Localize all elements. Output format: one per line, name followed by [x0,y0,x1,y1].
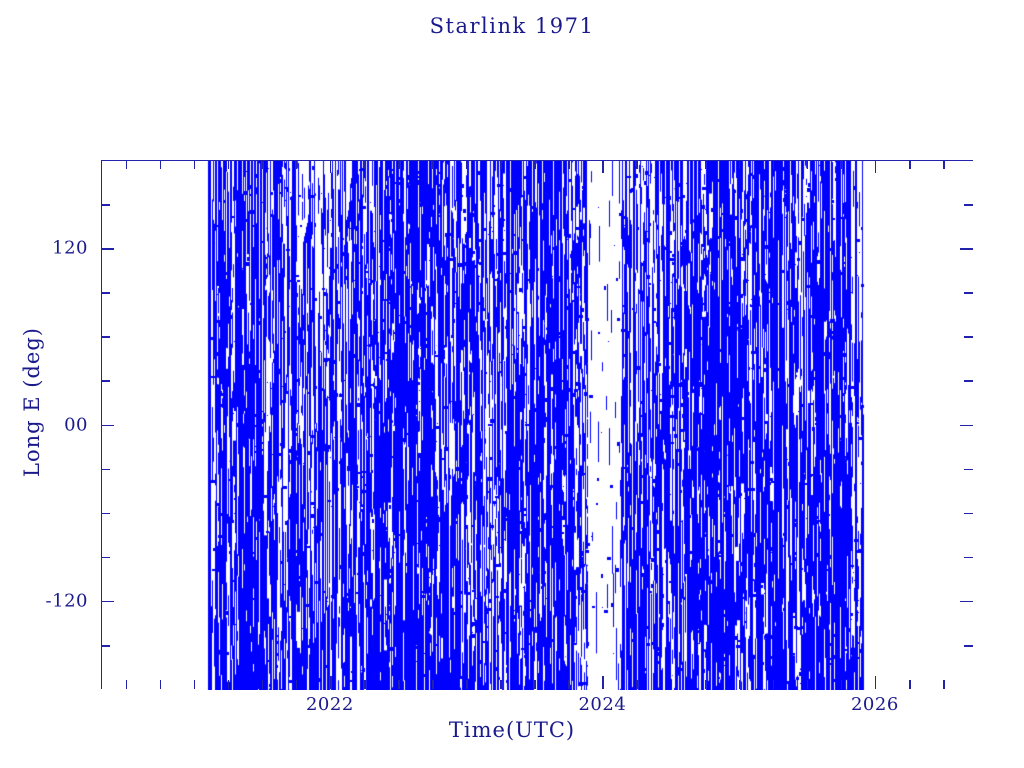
plot-frame [101,160,973,689]
x-tick [773,160,775,169]
y-tick [960,601,973,603]
x-tick [705,680,707,689]
y-tick [101,336,110,338]
y-tick [101,645,110,647]
x-tick [432,680,434,689]
data-series-canvas [102,161,974,690]
x-tick [126,680,128,689]
x-tick [841,680,843,689]
x-tick [739,160,741,169]
x-tick [126,160,128,169]
x-tick [875,160,877,173]
x-tick [262,680,264,689]
x-tick-label: 2022 [306,694,354,715]
y-tick [101,204,110,206]
x-tick [705,160,707,169]
x-tick [602,160,604,173]
y-tick [101,513,110,515]
x-tick [568,680,570,689]
y-tick [964,336,973,338]
x-tick [841,160,843,169]
y-tick [964,469,973,471]
y-tick-label: 120 [0,238,88,259]
x-tick [330,676,332,689]
y-tick [101,601,114,603]
x-tick [296,680,298,689]
x-tick [875,676,877,689]
x-tick [636,160,638,169]
x-tick [671,680,673,689]
y-tick [964,513,973,515]
x-tick [739,680,741,689]
x-tick [296,160,298,169]
x-tick [466,160,468,169]
x-tick [432,160,434,169]
x-tick [909,680,911,689]
x-tick [160,160,162,169]
x-tick [398,680,400,689]
y-tick [101,380,110,382]
x-tick-label: 2024 [578,694,626,715]
y-tick [960,248,973,250]
y-tick-label: 00 [0,414,88,435]
x-tick [534,160,536,169]
y-tick [964,292,973,294]
y-tick [101,469,110,471]
x-tick [943,680,945,689]
x-tick [398,160,400,169]
y-tick-label: -120 [0,590,88,611]
y-tick [101,292,110,294]
x-tick [228,680,230,689]
x-tick [773,680,775,689]
y-tick [964,204,973,206]
x-axis-title: Time(UTC) [0,718,1024,742]
x-tick [194,680,196,689]
x-tick [500,680,502,689]
x-tick [330,160,332,173]
x-tick [364,160,366,169]
y-axis-title: Long E (deg) [20,272,44,532]
x-tick [943,160,945,169]
y-tick [101,557,110,559]
x-tick [568,160,570,169]
x-tick [228,160,230,169]
y-tick [960,425,973,427]
y-tick [101,425,114,427]
x-tick [602,676,604,689]
y-tick [964,557,973,559]
x-tick [636,680,638,689]
page-title: Starlink 1971 [0,14,1024,38]
y-tick [964,380,973,382]
x-tick [160,680,162,689]
plot-page: Starlink 1971 20222024202612000-120 Time… [0,0,1024,768]
x-tick [909,160,911,169]
x-tick-label: 2026 [851,694,899,715]
x-tick [671,160,673,169]
y-tick [101,248,114,250]
y-tick [964,645,973,647]
x-tick [534,680,536,689]
x-tick [500,160,502,169]
x-tick [807,160,809,169]
x-tick [194,160,196,169]
x-tick [262,160,264,169]
x-tick [364,680,366,689]
x-tick [466,680,468,689]
x-tick [807,680,809,689]
